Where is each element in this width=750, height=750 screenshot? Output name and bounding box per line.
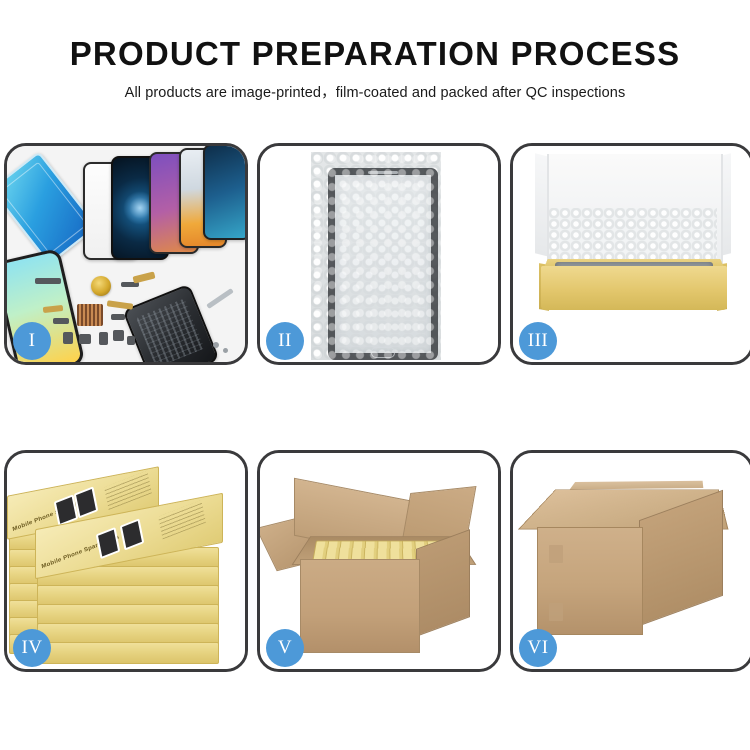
carton-side-icon (416, 529, 470, 637)
part-icon (113, 330, 124, 341)
page-subtitle: All products are image-printed，film-coat… (0, 81, 750, 102)
phone-screen-teal-icon (203, 146, 245, 240)
flex-cable-icon (132, 271, 155, 283)
box-lid-spec-text (158, 500, 206, 539)
tweezers-icon (206, 288, 234, 309)
product-preparation-infographic: PRODUCT PREPARATION PROCESS All products… (0, 0, 750, 750)
speaker-coil-icon (91, 276, 111, 296)
page-title: PRODUCT PREPARATION PROCESS (0, 36, 750, 72)
part-icon (79, 334, 91, 344)
phone-backplate-icon (122, 283, 219, 362)
step-badge-2: II (266, 322, 304, 360)
step-panel-2: II (257, 143, 501, 365)
chip-component-icon (77, 304, 103, 326)
flex-cable-icon (107, 300, 134, 310)
screw-icon (223, 348, 228, 353)
header: PRODUCT PREPARATION PROCESS All products… (0, 0, 750, 102)
part-icon (111, 314, 125, 320)
step-panel-3: III (510, 143, 750, 365)
box-front-icon (541, 266, 727, 310)
part-icon (53, 318, 69, 324)
phone-glass-panel-icon (328, 168, 438, 360)
step-panel-1: I (4, 143, 248, 365)
box-lid-product-image (96, 527, 121, 559)
stacked-box (37, 642, 219, 664)
step-panel-4: Mobile Phone Spare Parts Mobile Phone Sp… (4, 450, 248, 672)
screw-icon (213, 342, 219, 348)
steps-grid: I II III (4, 143, 746, 672)
step-badge-4: IV (13, 629, 51, 667)
step-panel-6: VI (510, 450, 750, 672)
part-icon (99, 332, 108, 345)
step-panel-5: V (257, 450, 501, 672)
box-lid-product-image (74, 486, 99, 518)
step-badge-1: I (13, 322, 51, 360)
box-lid-product-image (120, 518, 145, 550)
carton-tape-icon (570, 481, 704, 490)
carton-tab-icon (549, 545, 563, 563)
part-icon (127, 336, 135, 345)
carton-front-icon (300, 559, 420, 653)
step-badge-5: V (266, 629, 304, 667)
part-icon (35, 278, 61, 284)
part-icon (63, 332, 73, 344)
step-badge-3: III (519, 322, 557, 360)
carton-tab-icon (549, 603, 563, 621)
box-lid-spec-text (104, 471, 152, 510)
step-badge-6: VI (519, 629, 557, 667)
